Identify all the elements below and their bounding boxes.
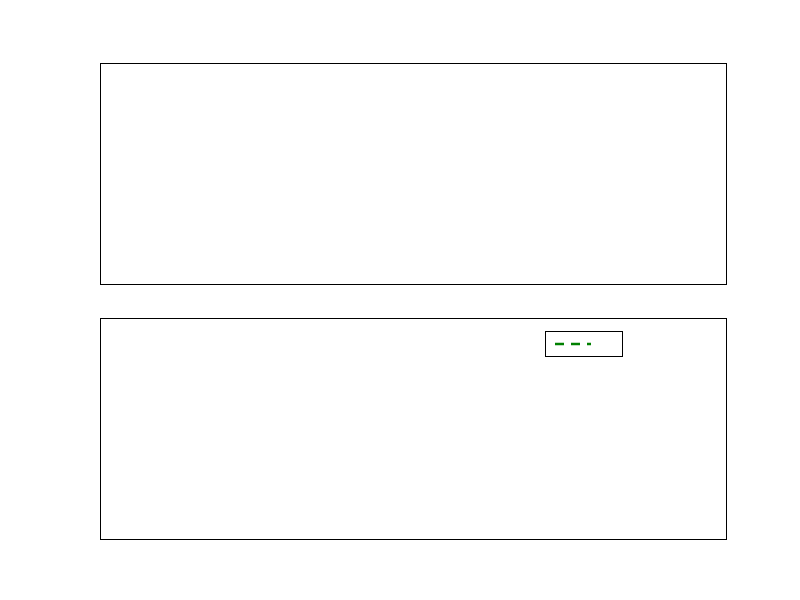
mag-limit-line-icon <box>553 337 593 351</box>
figure-canvas <box>0 0 800 600</box>
cumulative-histogram-axes <box>100 318 727 540</box>
differential-histogram-axes <box>100 63 727 285</box>
cumulative-histogram-plot <box>101 319 726 539</box>
differential-histogram-plot <box>101 64 726 284</box>
legend <box>545 331 623 357</box>
